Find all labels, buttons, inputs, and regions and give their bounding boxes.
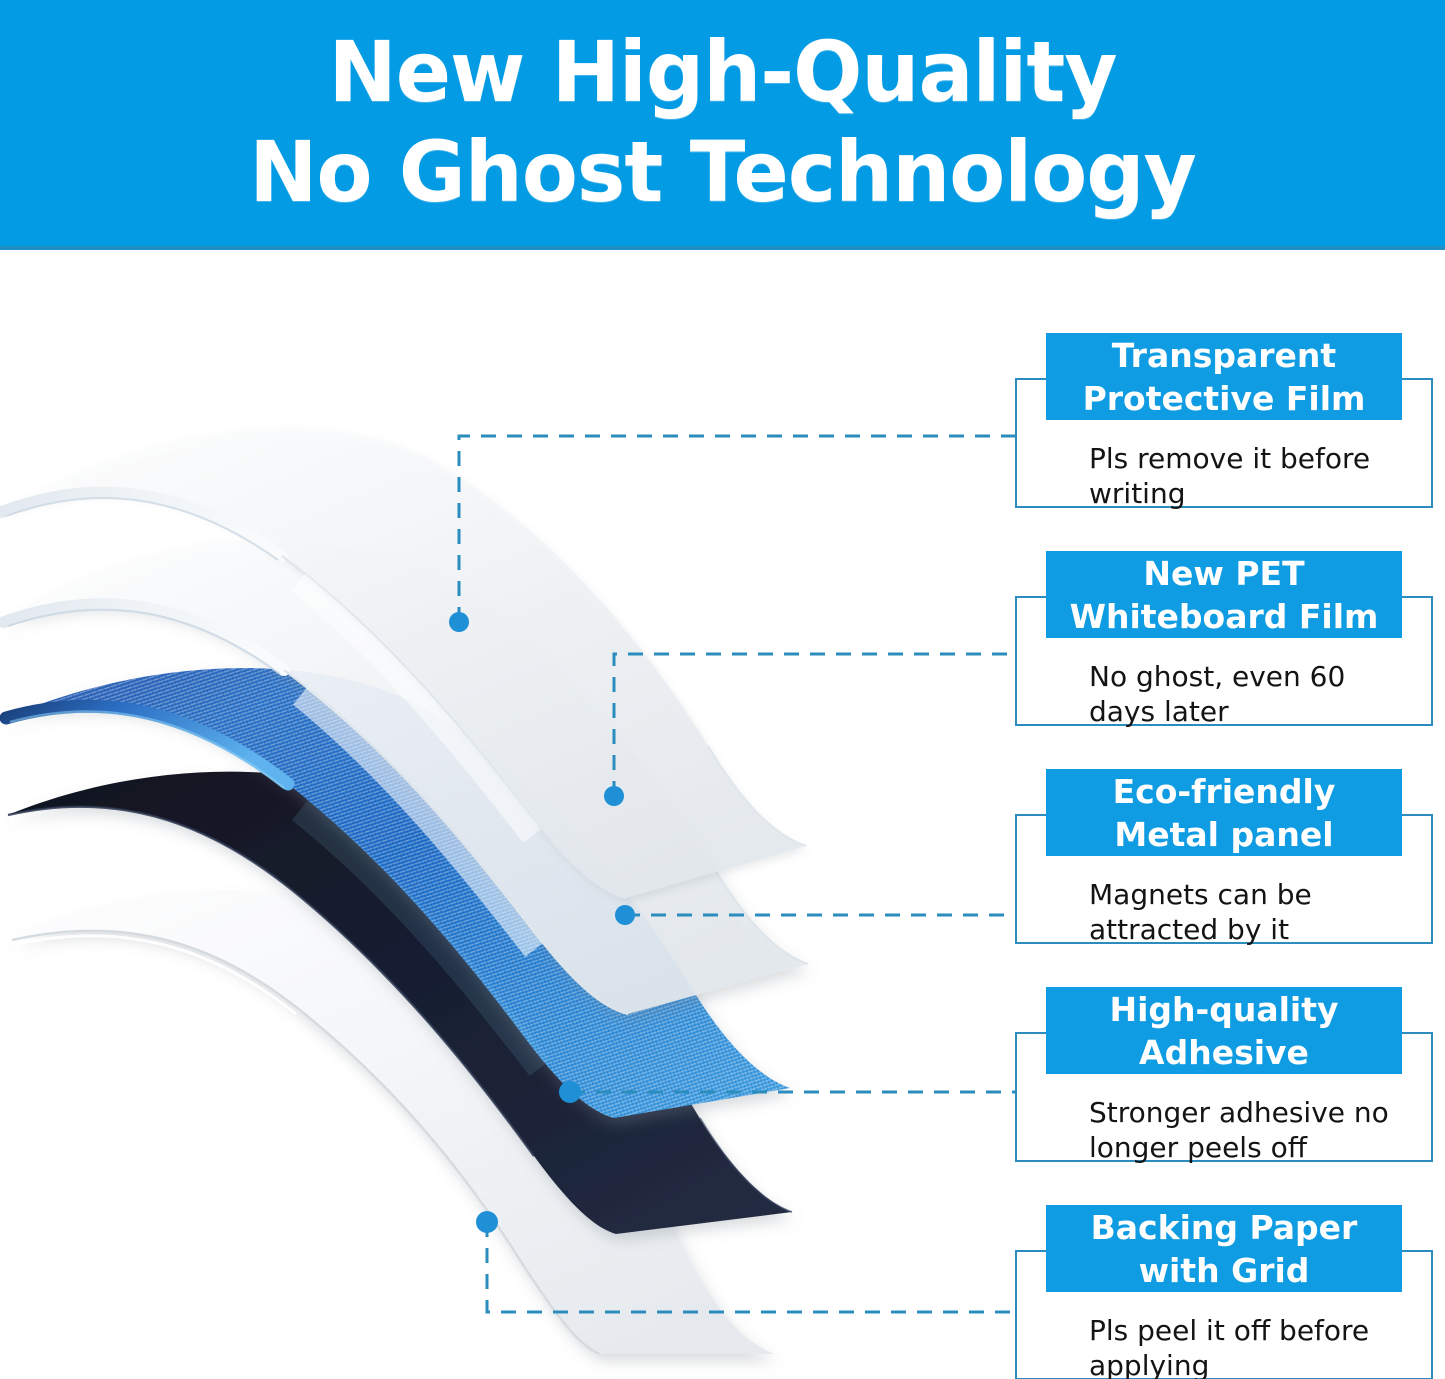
callout-title: Backing Paper with Grid bbox=[1046, 1205, 1402, 1292]
callout-description: Magnets can be attracted by it bbox=[1015, 877, 1433, 947]
callout-description: Pls peel it off before applying bbox=[1015, 1313, 1433, 1379]
callout-title: Eco-friendly Metal panel bbox=[1046, 769, 1402, 856]
page-title: New High-Quality No Ghost Technology bbox=[22, 22, 1424, 222]
callout-description: Pls remove it before writing bbox=[1015, 441, 1433, 511]
callout-title: High-quality Adhesive bbox=[1046, 987, 1402, 1074]
header-banner: New High-Quality No Ghost Technology bbox=[0, 0, 1445, 250]
callout-description: No ghost, even 60 days later bbox=[1015, 659, 1433, 729]
callout-description: Stronger adhesive no longer peels off bbox=[1015, 1095, 1433, 1165]
callout-title: New PET Whiteboard Film bbox=[1046, 551, 1402, 638]
product-layer-illustration bbox=[0, 250, 900, 1379]
callout-title: Transparent Protective Film bbox=[1046, 333, 1402, 420]
infographic-page: New High-Quality No Ghost Technology bbox=[0, 0, 1445, 1379]
